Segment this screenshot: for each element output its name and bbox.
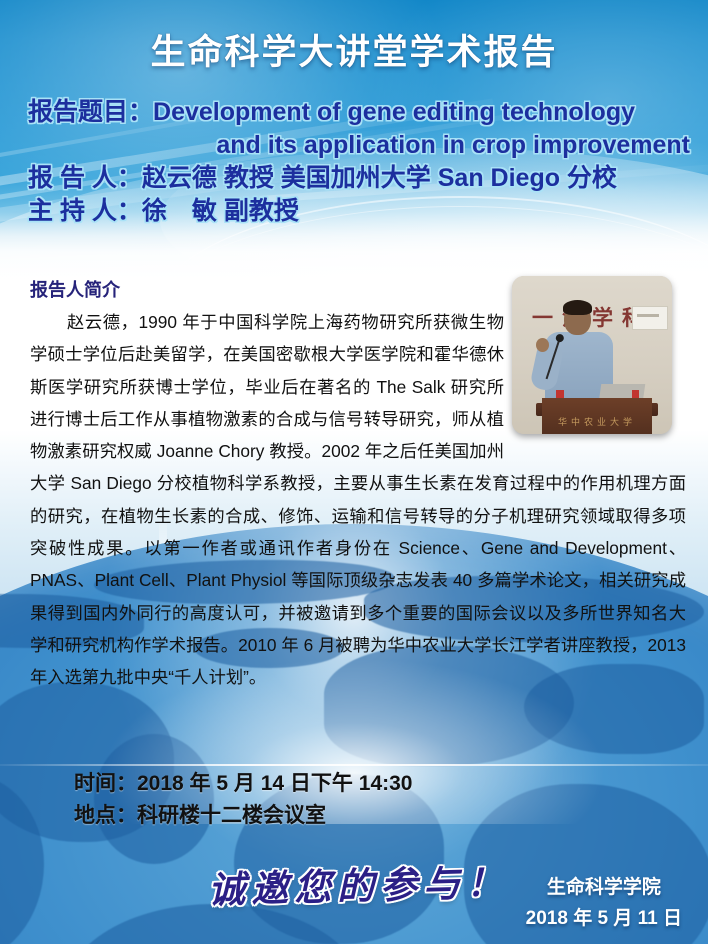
header-label-host: 主 持 人： xyxy=(28,197,142,225)
header-value-topic-cont: and its application in crop improvement xyxy=(216,131,690,159)
header-value-topic: Development of gene editing technology xyxy=(153,98,635,126)
invitation-text: 诚邀您的参与！ xyxy=(207,852,509,914)
header-label-topic: 报告题目： xyxy=(28,98,153,126)
header-value-host: 徐 敏 副教授 xyxy=(142,197,299,225)
header-info-block: 报告题目：Development of gene editing technol… xyxy=(28,96,694,228)
seminar-poster: 生命科学大讲堂学术报告 报告题目：Development of gene edi… xyxy=(0,0,708,944)
header-line-host: 主 持 人：徐 敏 副教授 xyxy=(28,195,694,228)
header-line-speaker: 报 告 人：赵云德 教授 美国加州大学 San Diego 分校 xyxy=(28,162,694,195)
bio-heading: 报告人简介 xyxy=(30,276,120,302)
page-title: 生命科学大讲堂学术报告 xyxy=(0,24,708,75)
signature-date: 2018 年 5 月 11 日 xyxy=(526,903,682,934)
event-time-row: 时间：2018 年 5 月 14 日下午 14:30 xyxy=(74,768,412,800)
header-line-topic: 报告题目：Development of gene editing technol… xyxy=(28,96,694,129)
header-line-topic-cont: and its application in crop improvement xyxy=(28,129,694,162)
header-value-speaker: 赵云德 教授 美国加州大学 San Diego 分校 xyxy=(142,164,617,192)
bio-photo-wrap-spacer xyxy=(504,306,686,458)
event-place-row: 地点：科研楼十二楼会议室 xyxy=(74,800,412,832)
header-label-speaker: 报 告 人： xyxy=(28,164,142,192)
event-details: 时间：2018 年 5 月 14 日下午 14:30 地点：科研楼十二楼会议室 xyxy=(74,768,412,832)
signature-block: 生命科学学院 2018 年 5 月 11 日 xyxy=(526,872,682,934)
signature-organization: 生命科学学院 xyxy=(526,872,682,903)
bio-paragraph: 赵云德，1990 年于中国科学院上海药物研究所获微生物学硕士学位后赴美留学，在美… xyxy=(30,306,686,694)
